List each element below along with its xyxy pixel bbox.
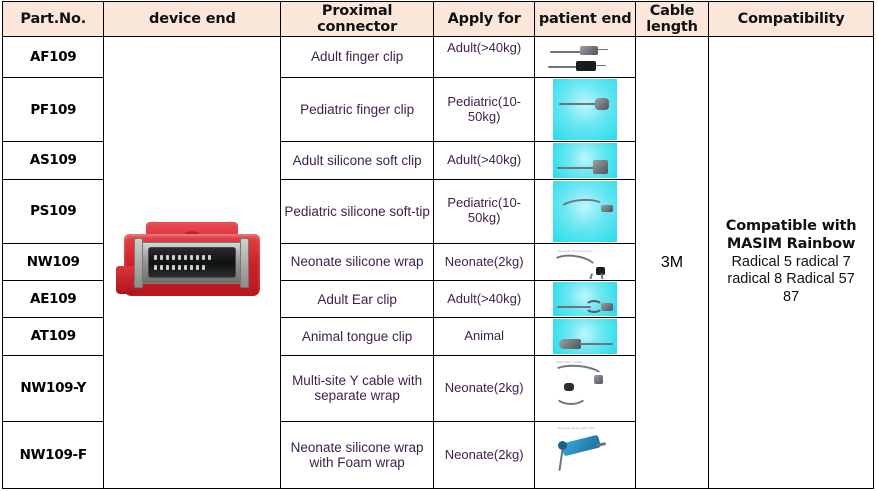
cell-part-no: AE109 — [3, 281, 104, 318]
cell-part-no: NW109-Y — [3, 355, 104, 422]
column-header-apply-for: Apply for — [433, 2, 534, 37]
cell-patient-end — [535, 281, 635, 318]
cell-proximal-connector: Pediatric finger clip — [281, 78, 434, 142]
cell-apply-for: Pediatric(10-50kg) — [433, 179, 534, 243]
cell-apply-for: Neonate(2kg) — [433, 422, 534, 489]
compatibility-line-2: MASIM Rainbow — [711, 236, 871, 254]
cell-patient-end — [535, 179, 635, 243]
table-header-row: Part.No. device end Proximal connector A… — [3, 2, 874, 37]
neonate-silicone-wrap-photo: Neonate silicone wrap — [544, 245, 626, 279]
cell-patient-end — [535, 318, 635, 355]
pediatric-finger-clip-photo — [553, 79, 617, 140]
cell-apply-for: Pediatric(10-50kg) — [433, 78, 534, 142]
spec-sheet: Part.No. device end Proximal connector A… — [0, 0, 877, 491]
cell-patient-end: Neonate silicone wrap — [535, 243, 635, 280]
red-rainbow-connector-photo — [106, 38, 278, 487]
column-header-device-end: device end — [104, 2, 281, 37]
cell-proximal-connector: Pediatric silicone soft-tip — [281, 179, 434, 243]
cell-apply-for: Animal — [433, 318, 534, 355]
cell-part-no: AF109 — [3, 37, 104, 78]
cell-apply-for: Neonate(2kg) — [433, 243, 534, 280]
adult-silicone-soft-clip-photo — [553, 143, 617, 177]
cell-part-no: AS109 — [3, 142, 104, 179]
compatibility-line-4: radical 8 Radical 57 — [711, 271, 871, 289]
pediatric-silicone-soft-tip-photo — [553, 181, 617, 242]
column-header-compatibility: Compatibility — [709, 2, 874, 37]
neonate-foam-wrap-photo: Neonate wrap with foam — [544, 423, 626, 487]
cell-part-no: NW109-F — [3, 422, 104, 489]
cell-patient-end — [535, 142, 635, 179]
cell-proximal-connector: Animal tongue clip — [281, 318, 434, 355]
cell-part-no: PS109 — [3, 179, 104, 243]
cell-patient-end: Neonate wrap with foam — [535, 422, 635, 489]
cell-part-no: NW109 — [3, 243, 104, 280]
cell-compatibility: Compatible with MASIM Rainbow Radical 5 … — [709, 37, 874, 489]
compatibility-line-1: Compatible with — [711, 218, 871, 236]
cell-cable-length: 3M — [635, 37, 708, 489]
column-header-patient-end: patient end — [535, 2, 635, 37]
cell-apply-for: Neonate(2kg) — [433, 355, 534, 422]
cell-patient-end — [535, 78, 635, 142]
column-header-proximal-connector: Proximal connector — [281, 2, 434, 37]
cell-apply-for: Adult(>40kg) — [433, 37, 534, 78]
product-spec-table: Part.No. device end Proximal connector A… — [2, 1, 874, 489]
cell-proximal-connector: Adult silicone soft clip — [281, 142, 434, 179]
column-header-part-no: Part.No. — [3, 2, 104, 37]
table-row: AF109 — [3, 37, 874, 78]
cell-device-end — [104, 37, 281, 489]
cell-apply-for: Adult(>40kg) — [433, 142, 534, 179]
compatibility-line-5: 87 — [711, 289, 871, 307]
cell-patient-end: Multi-site Y cable — [535, 355, 635, 422]
cell-part-no: PF109 — [3, 78, 104, 142]
multi-site-y-cable-photo: Multi-site Y cable — [544, 357, 626, 421]
cell-proximal-connector: Neonate silicone wrap with Foam wrap — [281, 422, 434, 489]
cell-patient-end — [535, 37, 635, 78]
cell-part-no: AT109 — [3, 318, 104, 355]
cell-proximal-connector: Adult Ear clip — [281, 281, 434, 318]
column-header-cable-length: Cable length — [635, 2, 708, 37]
adult-finger-clip-sensors-photo — [544, 38, 626, 76]
cell-apply-for: Adult(>40kg) — [433, 281, 534, 318]
compatibility-line-3: Radical 5 radical 7 — [711, 254, 871, 272]
animal-tongue-clip-photo — [553, 319, 617, 353]
cell-proximal-connector: Multi-site Y cable with separate wrap — [281, 355, 434, 422]
cell-proximal-connector: Adult finger clip — [281, 37, 434, 78]
adult-ear-clip-photo — [553, 282, 617, 316]
cell-proximal-connector: Neonate silicone wrap — [281, 243, 434, 280]
